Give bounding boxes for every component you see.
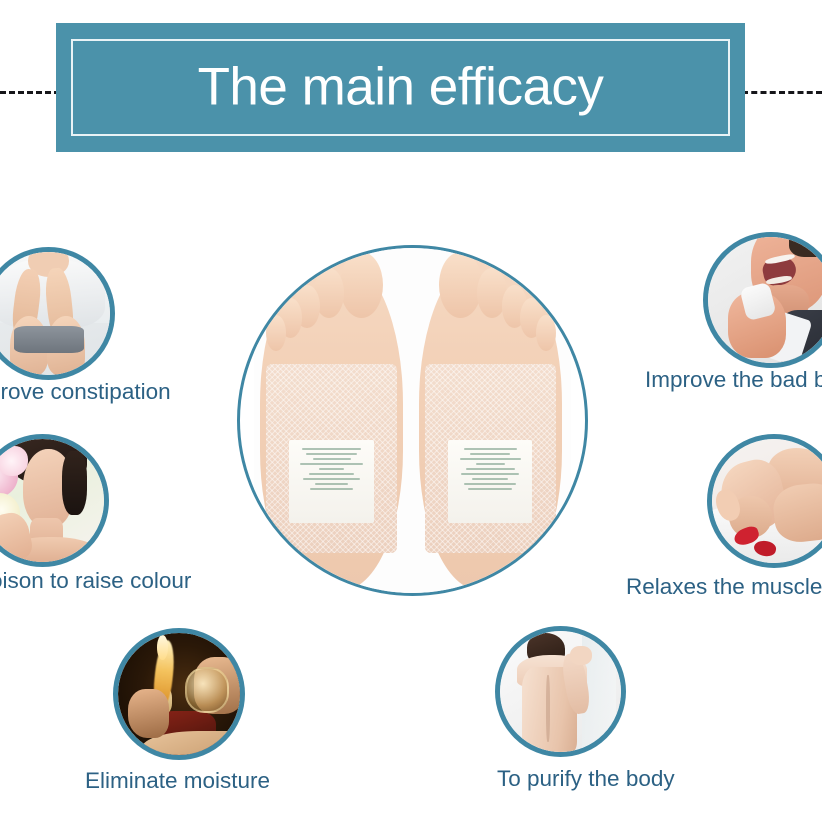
foot-pad-left	[266, 364, 397, 553]
feature-improve-constipation	[0, 247, 115, 380]
feature-caption-poison-to-raise-colour: oison to raise colour	[0, 570, 191, 593]
detox-foot-pads-on-feet-photo	[254, 248, 571, 593]
feature-to-purify-the-body	[495, 626, 626, 757]
feature-caption-improve-the-bad-breath: Improve the bad b	[645, 369, 822, 392]
feature-image-relaxes-the-muscles	[707, 434, 822, 568]
left-foot	[260, 258, 403, 589]
seated-woman-hugging-knees-photo	[0, 252, 110, 375]
page-title: The main efficacy	[56, 60, 745, 113]
feature-caption-relaxes-the-muscles: Relaxes the muscles	[626, 576, 822, 599]
feature-image-to-purify-the-body	[495, 626, 626, 757]
feature-caption-improve-constipation: prove constipation	[0, 381, 171, 404]
fire-cupping-therapy-photo	[118, 633, 240, 755]
foot-pad-right	[425, 364, 556, 553]
foot-massage-photo	[712, 439, 822, 563]
feature-eliminate-moisture	[113, 628, 245, 760]
infographic-page: The main efficacy prove constipation	[0, 0, 822, 822]
feature-caption-to-purify-the-body: To purify the body	[497, 768, 675, 791]
feature-poison-to-raise-colour	[0, 434, 109, 567]
header-banner: The main efficacy	[56, 23, 745, 152]
feature-image-poison-to-raise-colour	[0, 434, 109, 567]
feature-image-improve-the-bad-breath	[703, 232, 822, 368]
header-dashed-line-right	[742, 91, 822, 94]
feature-image-eliminate-moisture	[113, 628, 245, 760]
header-dashed-line-left	[0, 91, 60, 94]
woman-back-shower-photo	[500, 631, 621, 752]
right-foot	[419, 258, 562, 589]
feature-improve-the-bad-breath	[703, 232, 822, 368]
woman-face-with-flowers-photo	[0, 439, 104, 562]
feature-caption-eliminate-moisture: Eliminate moisture	[85, 770, 270, 793]
feature-image-improve-constipation	[0, 247, 115, 380]
feature-relaxes-the-muscles	[707, 434, 822, 568]
center-product-circle	[237, 245, 588, 596]
foot-pad-left-label	[289, 440, 373, 523]
man-breath-check-photo	[708, 237, 822, 363]
foot-pad-right-label	[448, 440, 532, 523]
